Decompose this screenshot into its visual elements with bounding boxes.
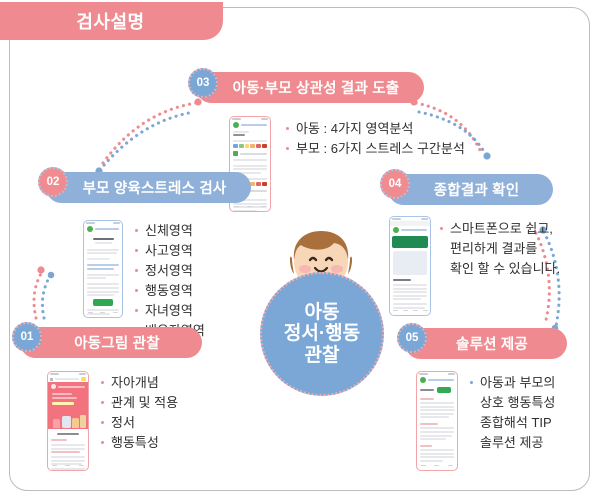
step-04-banner[interactable]: 종합결과 확인 [388,174,553,205]
center-line-3: 관찰 [305,345,340,366]
list-item: 아동 : 4가지 영역분석 [286,120,465,138]
step-01-phone-mockup [47,371,89,471]
step-04-bullets: 스마트폰으로 쉽고, 편리하게 결과를 확인 할 수 있습니다. [440,220,560,280]
list-item: 정서영역 [135,262,205,280]
list-item: 정서 [101,414,178,432]
list-item: 편리하게 결과를 [440,240,560,258]
step-05-bullets: 아동과 부모의 상호 행동특성 종합해석 TIP 솔루션 제공 [470,374,555,454]
list-item: 상호 행동특성 [470,394,555,412]
page-title: 검사설명 [76,8,144,34]
step-05-label: 솔루션 제공 [405,333,567,354]
step-05-banner[interactable]: 솔루션 제공 [405,328,567,359]
page-title-banner: 검사설명 [0,2,223,40]
step-02: 부모 양육스트레스 검사 02 [46,172,251,203]
center-hub: 아동 정서·행동 관찰 [246,228,396,398]
step-02-badge: 02 [38,167,68,197]
step-01-banner[interactable]: 아동그림 관찰 [20,327,202,358]
step-01-bullets: 자아개념 관계 및 적용 정서 행동특성 [101,374,178,454]
step-02-phone-mockup [83,220,123,318]
step-03-label: 아동·부모 상관성 결과 도출 [196,77,424,98]
infographic-root: 검사설명 아동·부모 상관성 결과 도출 03 [0,0,600,503]
center-line-2: 정서·행동 [284,323,360,344]
step-02-banner[interactable]: 부모 양육스트레스 검사 [46,172,251,203]
list-item: 자아개념 [101,374,178,392]
step-03-number: 03 [197,77,210,89]
illustration-box [393,251,427,275]
list-item: 사고영역 [135,242,205,260]
list-item: 부모 : 6가지 스트레스 구간분석 [286,140,465,158]
step-03-bullets: 아동 : 4가지 영역분석 부모 : 6가지 스트레스 구간분석 [286,120,465,160]
step-02-label: 부모 양육스트레스 검사 [46,177,251,198]
step-04: 종합결과 확인 04 [388,174,553,205]
green-header-band [392,236,428,248]
list-item: 아동과 부모의 [470,374,555,392]
list-item: 종합해석 TIP [470,414,555,432]
step-02-bullets: 신체영역 사고영역 정서영역 행동영역 자녀영역 배우자영역 [135,222,205,342]
list-item: 관계 및 적용 [101,394,178,412]
list-item: 행동영역 [135,282,205,300]
step-04-badge: 04 [380,169,410,199]
step-02-number: 02 [47,176,60,188]
step-03-banner[interactable]: 아동·부모 상관성 결과 도출 [196,72,424,103]
step-05-number: 05 [406,332,419,344]
step-05-badge: 05 [397,323,427,353]
green-badge [437,387,451,393]
center-line-1: 아동 [305,302,340,323]
step-03: 아동·부모 상관성 결과 도출 03 [196,72,424,103]
step-05-phone-mockup [416,371,458,471]
submit-button-mock [93,299,113,306]
step-01: 아동그림 관찰 01 [20,327,202,358]
list-item: 신체영역 [135,222,205,240]
list-item: 솔루션 제공 [470,434,555,452]
list-item: 스마트폰으로 쉽고, [440,220,560,238]
step-01-number: 01 [21,331,34,343]
list-item: 자녀영역 [135,302,205,320]
phone-navbar [230,203,270,210]
step-03-badge: 03 [188,68,218,98]
step-04-number: 04 [389,178,402,190]
step-04-label: 종합결과 확인 [388,179,553,200]
center-circle: 아동 정서·행동 관찰 [260,272,384,396]
score-segments [233,144,267,148]
step-01-label: 아동그림 관찰 [20,332,202,353]
list-item: 확인 할 수 있습니다. [440,260,560,278]
list-item: 행동특성 [101,434,178,452]
step-01-badge: 01 [12,322,42,352]
step-05: 솔루션 제공 05 [405,328,567,359]
